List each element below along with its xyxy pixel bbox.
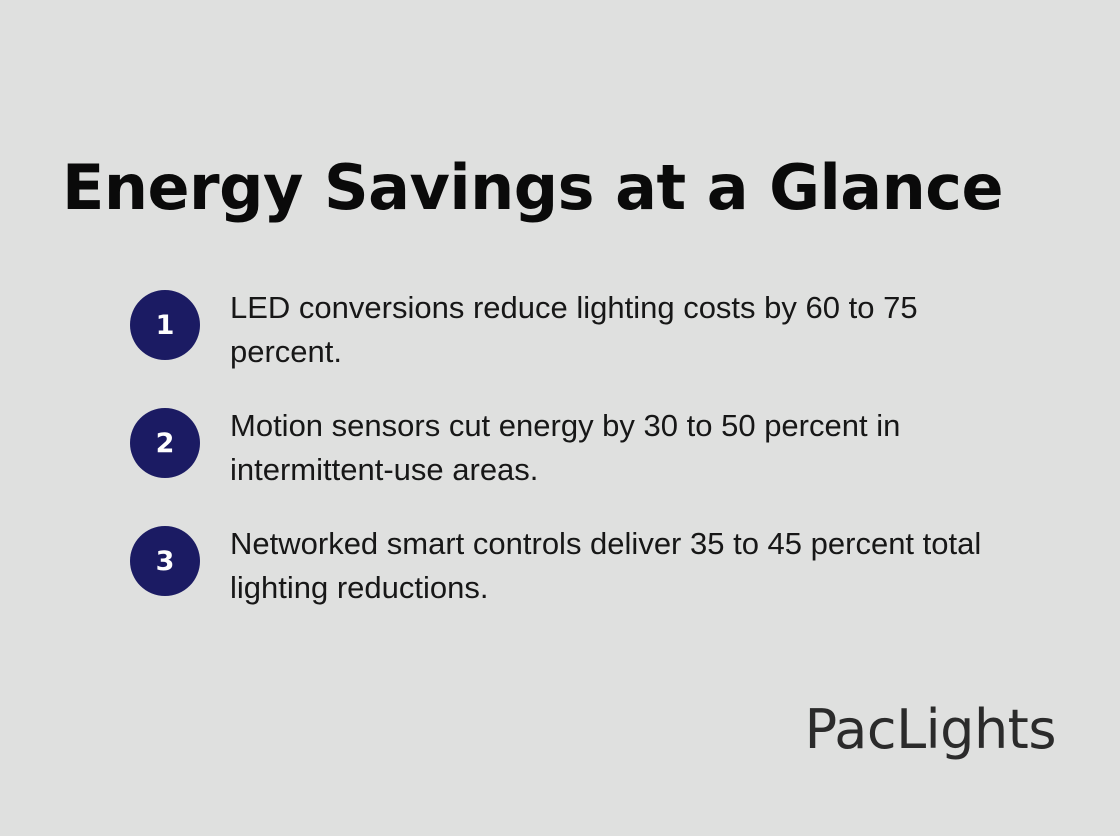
brand-logo: PacLights: [805, 702, 1056, 758]
infographic-card: Energy Savings at a Glance 1 LED convers…: [0, 0, 1120, 836]
list-item: 3 Networked smart controls deliver 35 to…: [130, 522, 1010, 610]
tip-number-badge: 1: [130, 290, 200, 360]
tips-list: 1 LED conversions reduce lighting costs …: [130, 286, 1010, 610]
page-title: Energy Savings at a Glance: [62, 150, 1003, 226]
tip-text: Networked smart controls deliver 35 to 4…: [230, 522, 1005, 610]
list-item: 2 Motion sensors cut energy by 30 to 50 …: [130, 404, 1010, 492]
tip-number-badge: 2: [130, 408, 200, 478]
tip-number-badge: 3: [130, 526, 200, 596]
tip-text: LED conversions reduce lighting costs by…: [230, 286, 1005, 374]
list-item: 1 LED conversions reduce lighting costs …: [130, 286, 1010, 374]
tip-text: Motion sensors cut energy by 30 to 50 pe…: [230, 404, 1005, 492]
